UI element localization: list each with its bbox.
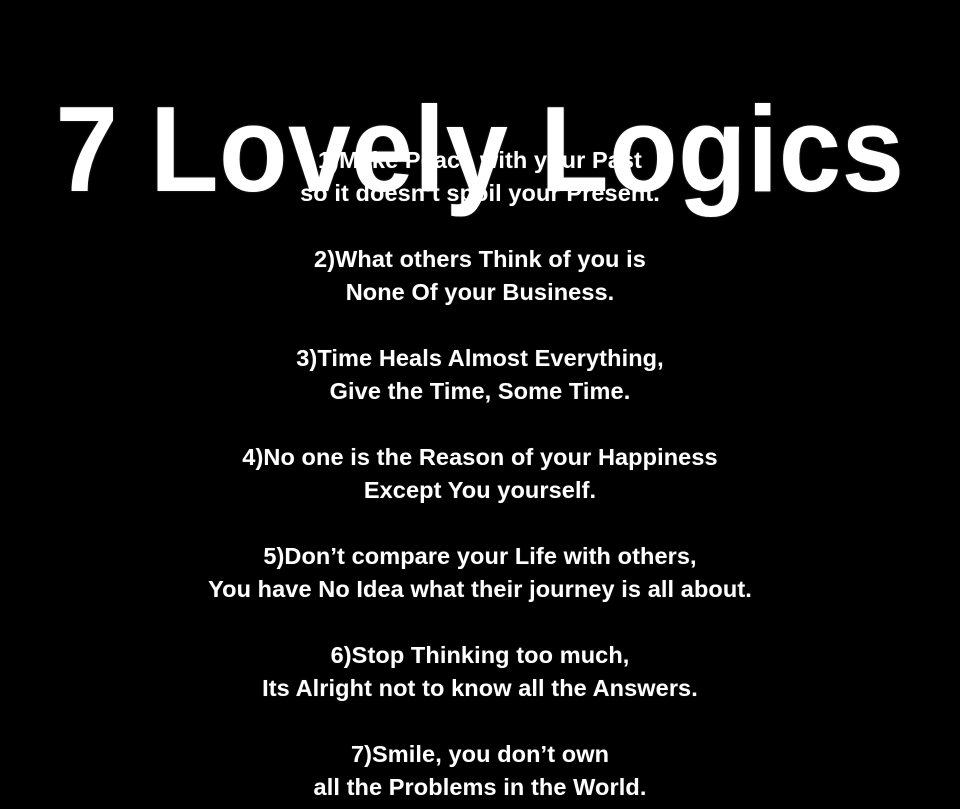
logic-line-secondary: None Of your Business. [0,276,960,309]
logic-line-secondary: Its Alright not to know all the Answers. [0,672,960,705]
list-item: 3)Time Heals Almost Everything, Give the… [0,342,960,441]
logic-line-secondary: Except You yourself. [0,474,960,507]
list-item: 6)Stop Thinking too much, Its Alright no… [0,639,960,738]
poster-canvas: 7 Lovely Logics 1)Make Peace with your P… [0,0,960,809]
logic-line-primary: 1)Make Peace with your Past [0,144,960,177]
logics-list: 1)Make Peace with your Past so it doesn’… [0,144,960,809]
list-item: 4)No one is the Reason of your Happiness… [0,441,960,540]
logic-line-secondary: all the Problems in the World. [0,771,960,804]
logic-line-primary: 4)No one is the Reason of your Happiness [0,441,960,474]
list-item: 2)What others Think of you is None Of yo… [0,243,960,342]
logic-line-primary: 2)What others Think of you is [0,243,960,276]
logic-line-primary: 3)Time Heals Almost Everything, [0,342,960,375]
logic-line-primary: 5)Don’t compare your Life with others, [0,540,960,573]
logic-line-primary: 7)Smile, you don’t own [0,738,960,771]
list-item: 5)Don’t compare your Life with others, Y… [0,540,960,639]
title-area: 7 Lovely Logics [0,0,960,138]
logic-line-secondary: so it doesn’t spoil your Present. [0,177,960,210]
list-item: 7)Smile, you don’t own all the Problems … [0,738,960,809]
list-item: 1)Make Peace with your Past so it doesn’… [0,144,960,243]
logic-line-primary: 6)Stop Thinking too much, [0,639,960,672]
logic-line-secondary: Give the Time, Some Time. [0,375,960,408]
logic-line-secondary: You have No Idea what their journey is a… [0,573,960,606]
